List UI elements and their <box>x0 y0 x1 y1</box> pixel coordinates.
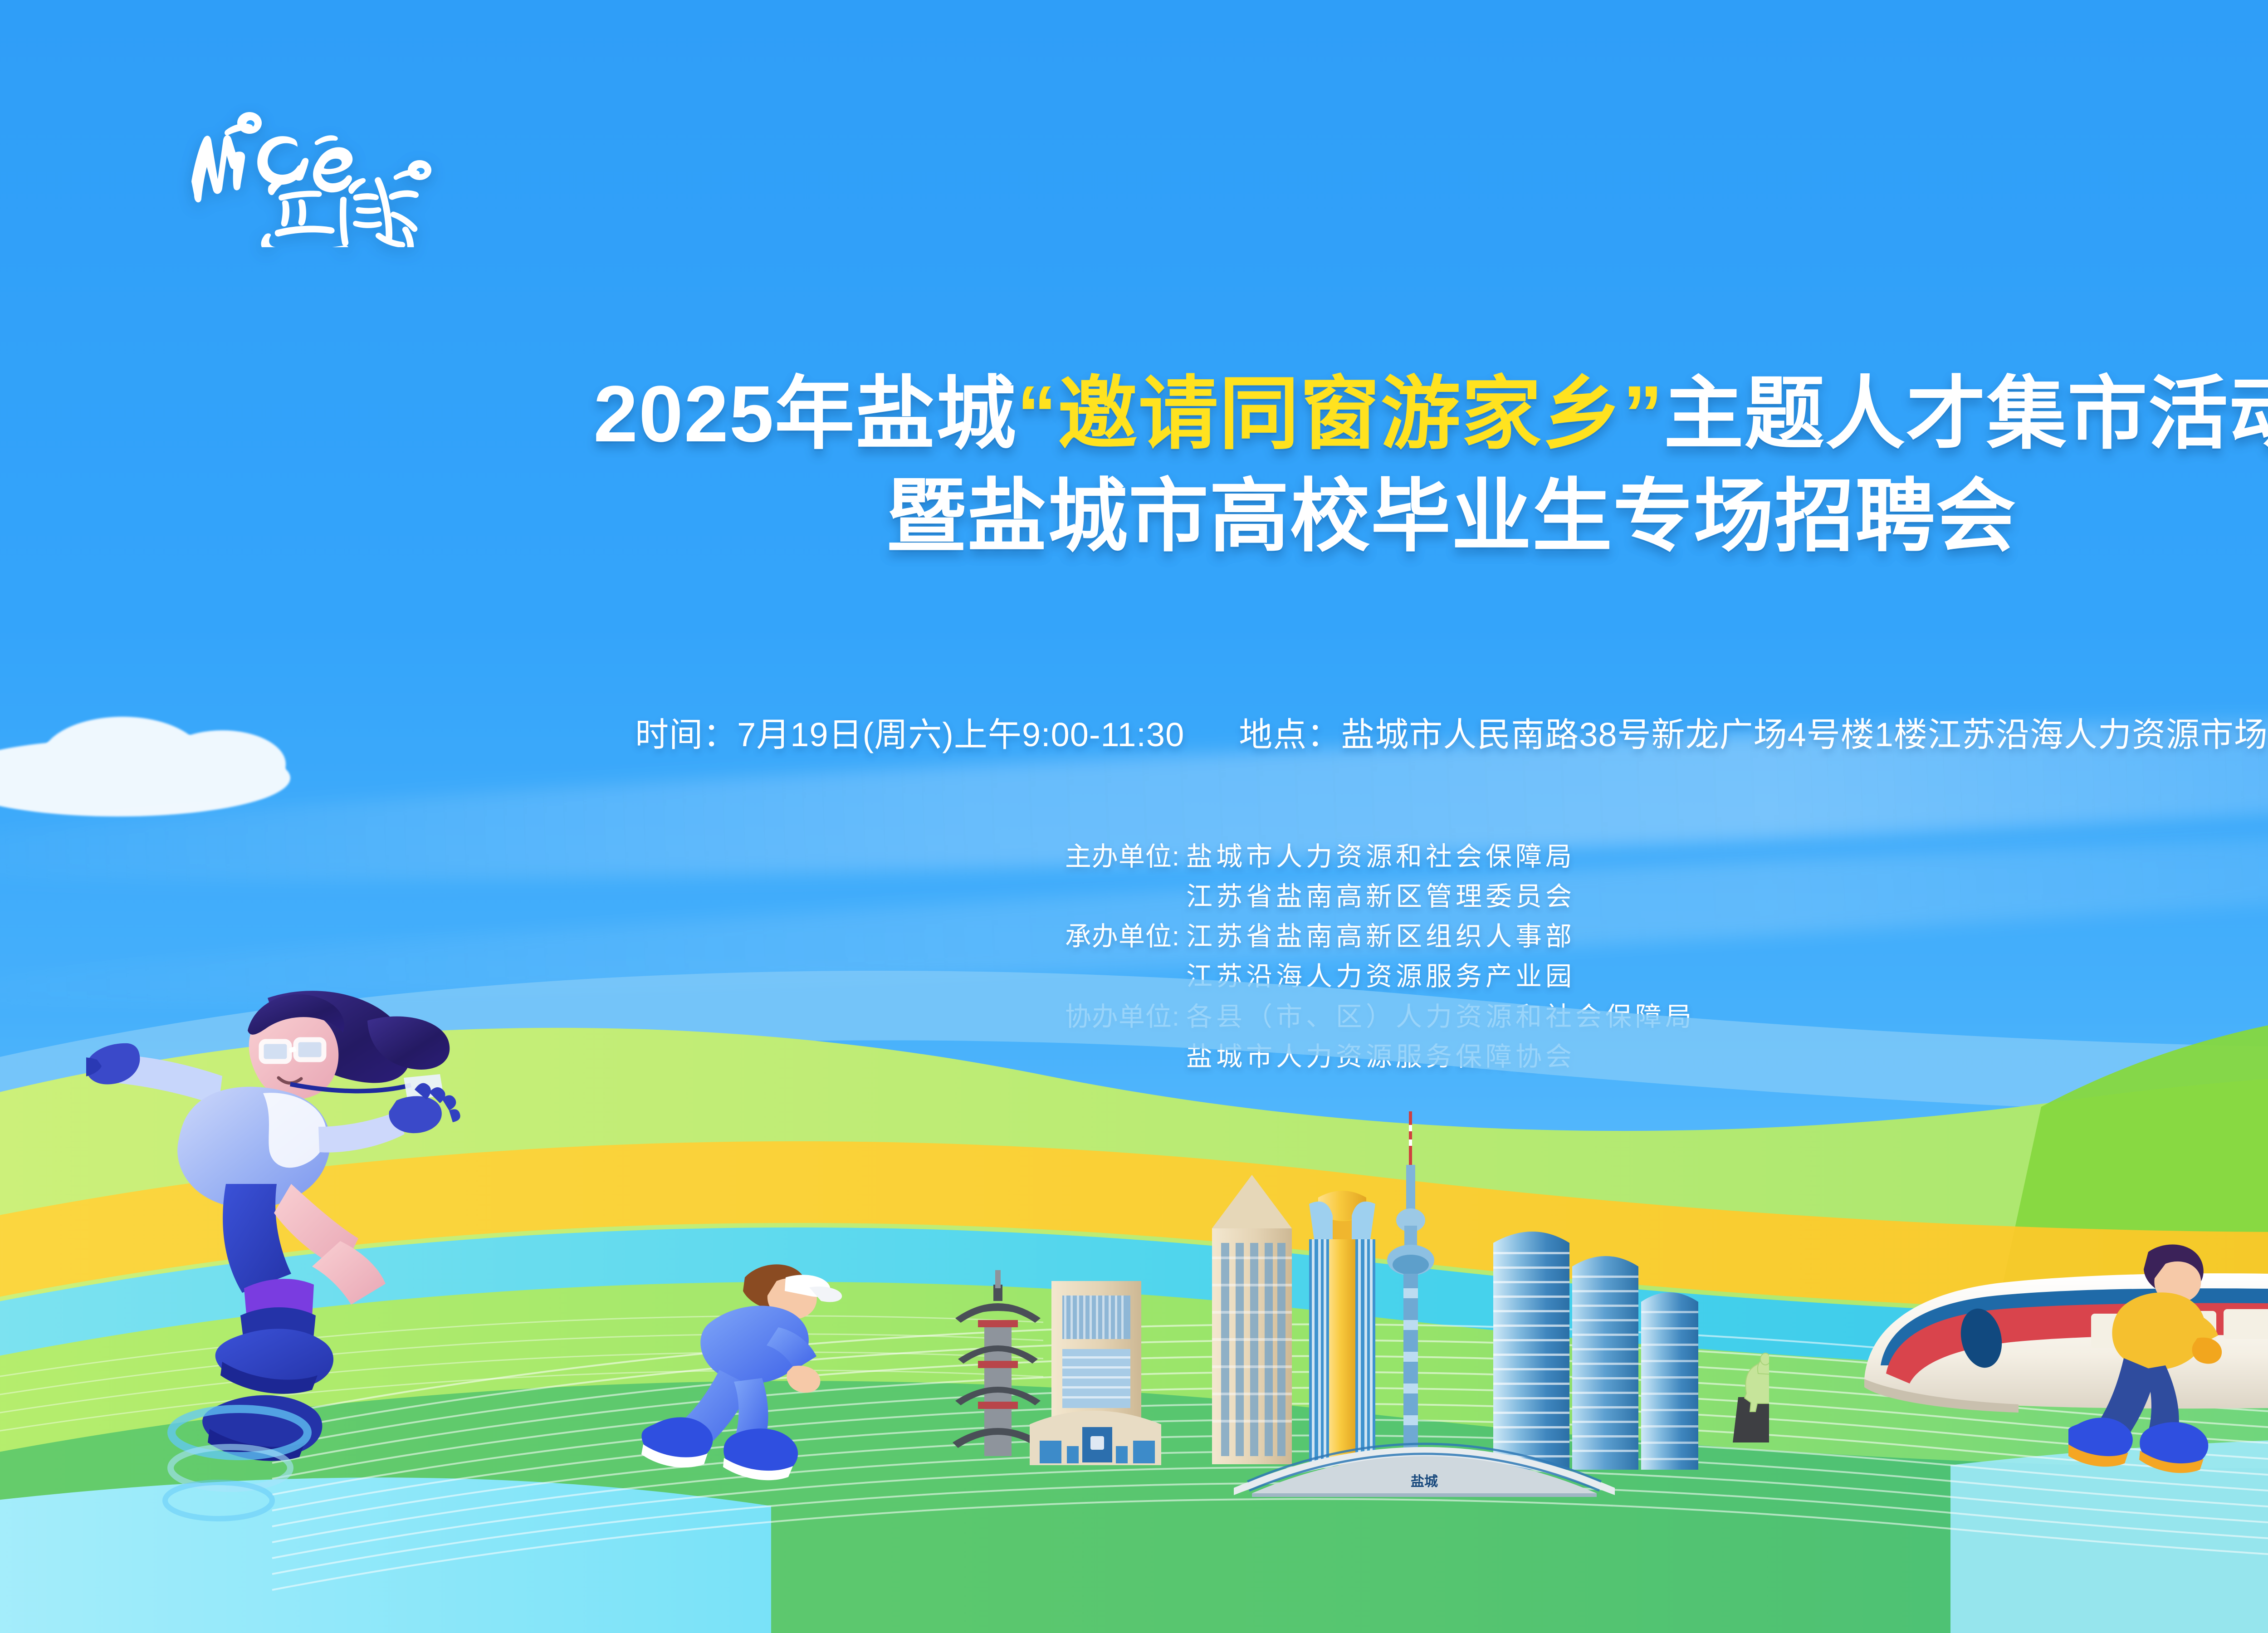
figure-runner-blue <box>626 1234 862 1524</box>
place-value: 盐城市人民南路38号新龙广场4号楼1楼江苏沿海人力资源市场 <box>1341 716 2268 753</box>
headline-line-1: 2025年盐城“邀请同窗游家乡”主题人才集市活动 <box>0 367 2268 462</box>
spire-tower <box>1212 1175 1292 1464</box>
headline-quote-close: ” <box>1623 370 1664 459</box>
place-label: 地点： <box>1239 716 1341 753</box>
station-sign: 盐城 <box>1411 1474 1438 1489</box>
headline-quote-open: “ <box>1017 370 1058 459</box>
poster-canvas: 2025年盐城“邀请同窗游家乡”主题人才集市活动 暨盐城市高校毕业生专场招聘会 … <box>0 0 2268 1633</box>
twin-glass-towers <box>1493 1232 1698 1470</box>
equestrian-statue <box>1733 1353 1769 1442</box>
page-title: 2025年盐城“邀请同窗游家乡”主题人才集市活动 暨盐城市高校毕业生专场招聘会 <box>0 367 2268 564</box>
nice-yancheng-logo <box>181 98 454 247</box>
event-meta: 时间：7月19日(周六)上午9:00-11:30地点：盐城市人民南路38号新龙广… <box>0 708 2268 756</box>
illustration-scene: 盐城 <box>0 862 2268 1633</box>
figure-woman-pointing <box>86 971 463 1569</box>
gold-tulip-tower <box>1309 1191 1375 1465</box>
figure-runner-yellow <box>2068 1229 2259 1483</box>
headline-suffix: 主题人才集市活动 <box>1664 370 2268 459</box>
headline-line-2: 暨盐城市高校毕业生专场招聘会 <box>0 470 2268 564</box>
office-building <box>1030 1281 1161 1465</box>
headline-highlight: 邀请同窗游家乡 <box>1058 370 1623 459</box>
headline-prefix: 2025年盐城 <box>593 370 1017 459</box>
yancheng-skyline: 盐城 <box>934 1107 1769 1497</box>
tv-tower <box>1387 1111 1434 1462</box>
time-label: 时间： <box>635 716 737 753</box>
time-value: 7月19日(周六)上午9:00-11:30 <box>737 716 1184 753</box>
